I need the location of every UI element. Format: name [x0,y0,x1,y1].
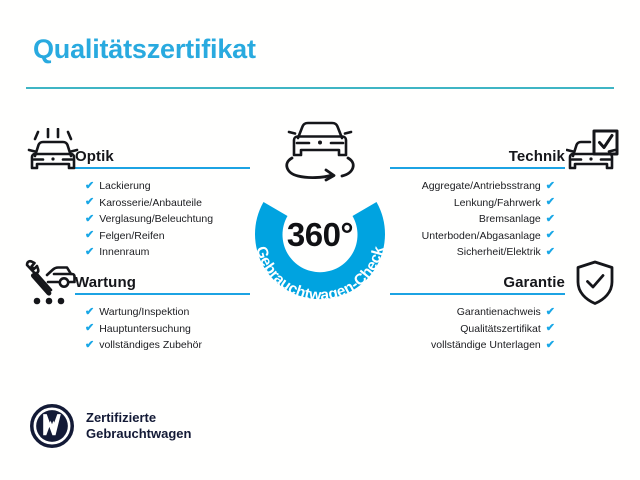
list-item: ✔Unterboden/Abgasanlage [390,228,555,245]
shield-check-icon [572,259,618,312]
section-technik-list: ✔Aggregate/Antriebsstrang ✔Lenkung/Fahrw… [390,178,565,261]
check-icon: ✔ [85,340,94,351]
section-garantie-title: Garantie [503,274,565,291]
check-icon: ✔ [546,230,555,241]
check-icon: ✔ [546,340,555,351]
list-item: ✔Innenraum [85,244,250,261]
car-rotation-icon [278,118,362,184]
car-service-wrench-icon [21,257,77,314]
check-icon: ✔ [546,197,555,208]
section-technik: Technik ✔Aggregate/Antriebsstrang ✔Lenku… [390,143,565,261]
list-item: ✔Qualitätszertifikat [390,321,555,338]
car-checkbox-icon [566,128,620,183]
section-wartung: Wartung ✔Wartung/Inspektion ✔Hauptunters… [75,269,250,354]
check-icon: ✔ [546,247,555,258]
list-item: ✔vollständige Unterlagen [390,337,555,354]
list-item-label: Lackierung [99,178,150,195]
list-item: ✔Bremsanlage [390,211,555,228]
list-item: ✔Lackierung [85,178,250,195]
check-icon: ✔ [546,307,555,318]
list-item-label: vollständiges Zubehör [99,337,202,354]
list-item: ✔Wartung/Inspektion [85,304,250,321]
list-item-label: Garantienachweis [457,304,541,321]
list-item-label: Karosserie/Anbauteile [99,195,202,212]
footer-brand: Zertifizierte Gebrauchtwagen [30,404,191,448]
list-item-label: Innenraum [99,244,149,261]
list-item-label: Bremsanlage [479,211,541,228]
section-wartung-title: Wartung [75,274,136,291]
section-garantie: Garantie ✔Garantienachweis ✔Qualitätszer… [390,269,565,354]
check-icon: ✔ [85,214,94,225]
section-garantie-list: ✔Garantienachweis ✔Qualitätszertifikat ✔… [390,304,565,354]
check-icon: ✔ [85,307,94,318]
certificate-page: Qualitätszertifikat Optik ✔Lackierung ✔K… [0,0,640,480]
list-item: ✔Felgen/Reifen [85,228,250,245]
section-technik-title: Technik [509,148,565,165]
list-item: ✔Aggregate/Antriebsstrang [390,178,555,195]
list-item-label: Lenkung/Fahrwerk [454,195,541,212]
section-wartung-header: Wartung [75,269,250,295]
check-icon: ✔ [546,323,555,334]
section-optik-list: ✔Lackierung ✔Karosserie/Anbauteile ✔Verg… [75,178,250,261]
check-icon: ✔ [85,181,94,192]
list-item-label: Hauptuntersuchung [99,321,191,338]
title-divider [26,87,614,89]
list-item: ✔Karosserie/Anbauteile [85,195,250,212]
list-item-label: Qualitätszertifikat [460,321,541,338]
check-icon: ✔ [546,181,555,192]
list-item: ✔Garantienachweis [390,304,555,321]
section-garantie-header: Garantie [390,269,565,295]
check-icon: ✔ [85,197,94,208]
check-icon: ✔ [546,214,555,225]
car-shine-icon [24,128,80,183]
list-item-label: Sicherheit/Elektrik [457,244,541,261]
check-icon: ✔ [85,247,94,258]
section-technik-header: Technik [390,143,565,169]
section-optik-title: Optik [75,148,114,165]
list-item: ✔Lenkung/Fahrwerk [390,195,555,212]
section-optik: Optik ✔Lackierung ✔Karosserie/Anbauteile… [75,143,250,261]
section-optik-divider [75,167,250,169]
section-technik-divider [390,167,565,169]
list-item-label: Aggregate/Antriebsstrang [422,178,541,195]
section-wartung-list: ✔Wartung/Inspektion ✔Hauptuntersuchung ✔… [75,304,250,354]
list-item: ✔Verglasung/Beleuchtung [85,211,250,228]
footer-brand-text: Zertifizierte Gebrauchtwagen [86,410,191,442]
list-item-label: vollständige Unterlagen [431,337,541,354]
list-item-label: Felgen/Reifen [99,228,164,245]
list-item-label: Verglasung/Beleuchtung [99,211,213,228]
list-item-label: Wartung/Inspektion [99,304,189,321]
list-item-label: Unterboden/Abgasanlage [422,228,541,245]
check-icon: ✔ [85,230,94,241]
section-garantie-divider [390,293,565,295]
list-item: ✔vollständiges Zubehör [85,337,250,354]
check-icon: ✔ [85,323,94,334]
list-item: ✔Hauptuntersuchung [85,321,250,338]
vw-logo [30,404,74,448]
page-title: Qualitätszertifikat [33,34,256,65]
section-optik-header: Optik [75,143,250,169]
list-item: ✔Sicherheit/Elektrik [390,244,555,261]
section-wartung-divider [75,293,250,295]
